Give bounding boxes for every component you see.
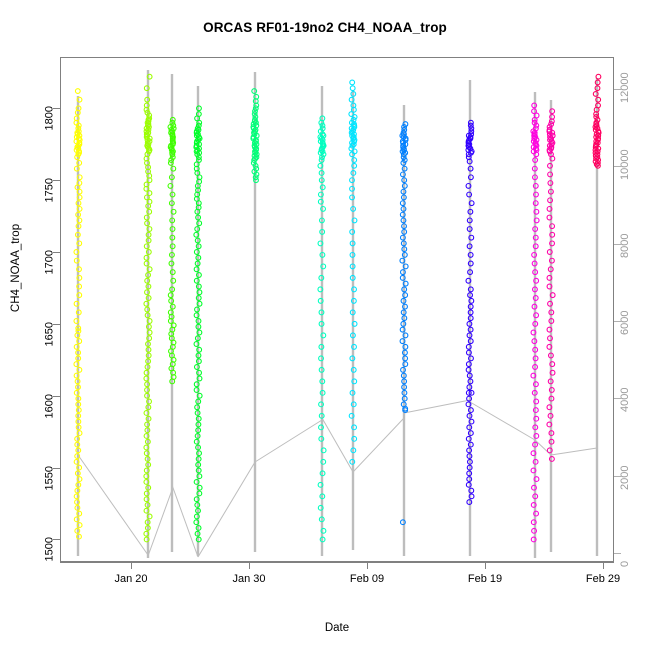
x-axis-tick xyxy=(131,562,132,569)
altitude-traces xyxy=(78,70,597,558)
x-axis-tick-label: Jan 30 xyxy=(232,573,265,585)
altitude-connector-segment xyxy=(470,402,535,440)
x-axis-tick xyxy=(249,562,250,569)
data-point xyxy=(350,86,355,91)
x-axis: Date Jan 20Jan 30Feb 09Feb 19Feb 29 xyxy=(60,562,614,622)
y-axis-right-tick xyxy=(614,553,621,554)
y-axis-right-tick-label: 8000 xyxy=(619,233,631,257)
y-axis-right-tick-label: 12000 xyxy=(619,72,631,103)
x-axis-title: Date xyxy=(60,622,614,634)
x-axis-tick-label: Jan 20 xyxy=(114,573,147,585)
y-axis-right-tick-label: 0 xyxy=(619,561,631,567)
y-axis-left: 1500155016001650170017501800 xyxy=(0,57,60,562)
x-axis-tick xyxy=(603,562,604,569)
x-axis-tick-label: Feb 09 xyxy=(350,573,384,585)
y-axis-left-tick-label: 1500 xyxy=(43,537,55,561)
x-axis-tick-label: Feb 19 xyxy=(468,573,502,585)
y-axis-right-tick-label: 2000 xyxy=(619,465,631,489)
y-axis-left-tick-label: 1650 xyxy=(43,322,55,346)
y-axis-right-tick-label: 4000 xyxy=(619,388,631,412)
altitude-connector-segment xyxy=(551,448,597,455)
y-axis-left-tick-label: 1550 xyxy=(43,466,55,490)
y-axis-right: 020004000600080001000012000 xyxy=(614,57,650,562)
y-axis-left-tick-label: 1600 xyxy=(43,394,55,418)
y-axis-right-tick-label: 6000 xyxy=(619,311,631,335)
altitude-connector-segment xyxy=(404,400,470,413)
chart-canvas: ORCAS RF01-19no2 CH4_NOAA_trop 150015501… xyxy=(0,0,650,650)
y-axis-right-tick-label: 10000 xyxy=(619,150,631,181)
data-point xyxy=(596,74,601,79)
y-axis-left-tick-label: 1800 xyxy=(43,106,55,130)
altitude-connector-segment xyxy=(148,490,172,556)
altitude-connectors xyxy=(78,400,597,557)
altitude-connector-segment xyxy=(78,455,148,555)
plot-area xyxy=(60,57,614,562)
x-axis-line xyxy=(60,562,614,563)
data-point xyxy=(75,89,80,94)
data-point xyxy=(350,80,355,85)
x-axis-tick xyxy=(367,562,368,569)
data-layer xyxy=(61,58,613,561)
y-axis-left-tick-label: 1750 xyxy=(43,178,55,202)
x-axis-tick xyxy=(485,562,486,569)
chart-title: ORCAS RF01-19no2 CH4_NOAA_trop xyxy=(0,20,650,35)
data-points xyxy=(74,74,601,542)
altitude-connector-segment xyxy=(322,418,353,472)
y-axis-left-title: CH4_NOAA_trop xyxy=(10,158,22,378)
altitude-connector-segment xyxy=(198,462,255,557)
altitude-connector-segment xyxy=(255,420,322,462)
y-axis-left-tick-label: 1700 xyxy=(43,250,55,274)
x-axis-tick-label: Feb 29 xyxy=(586,573,620,585)
altitude-connector-segment xyxy=(353,418,404,472)
